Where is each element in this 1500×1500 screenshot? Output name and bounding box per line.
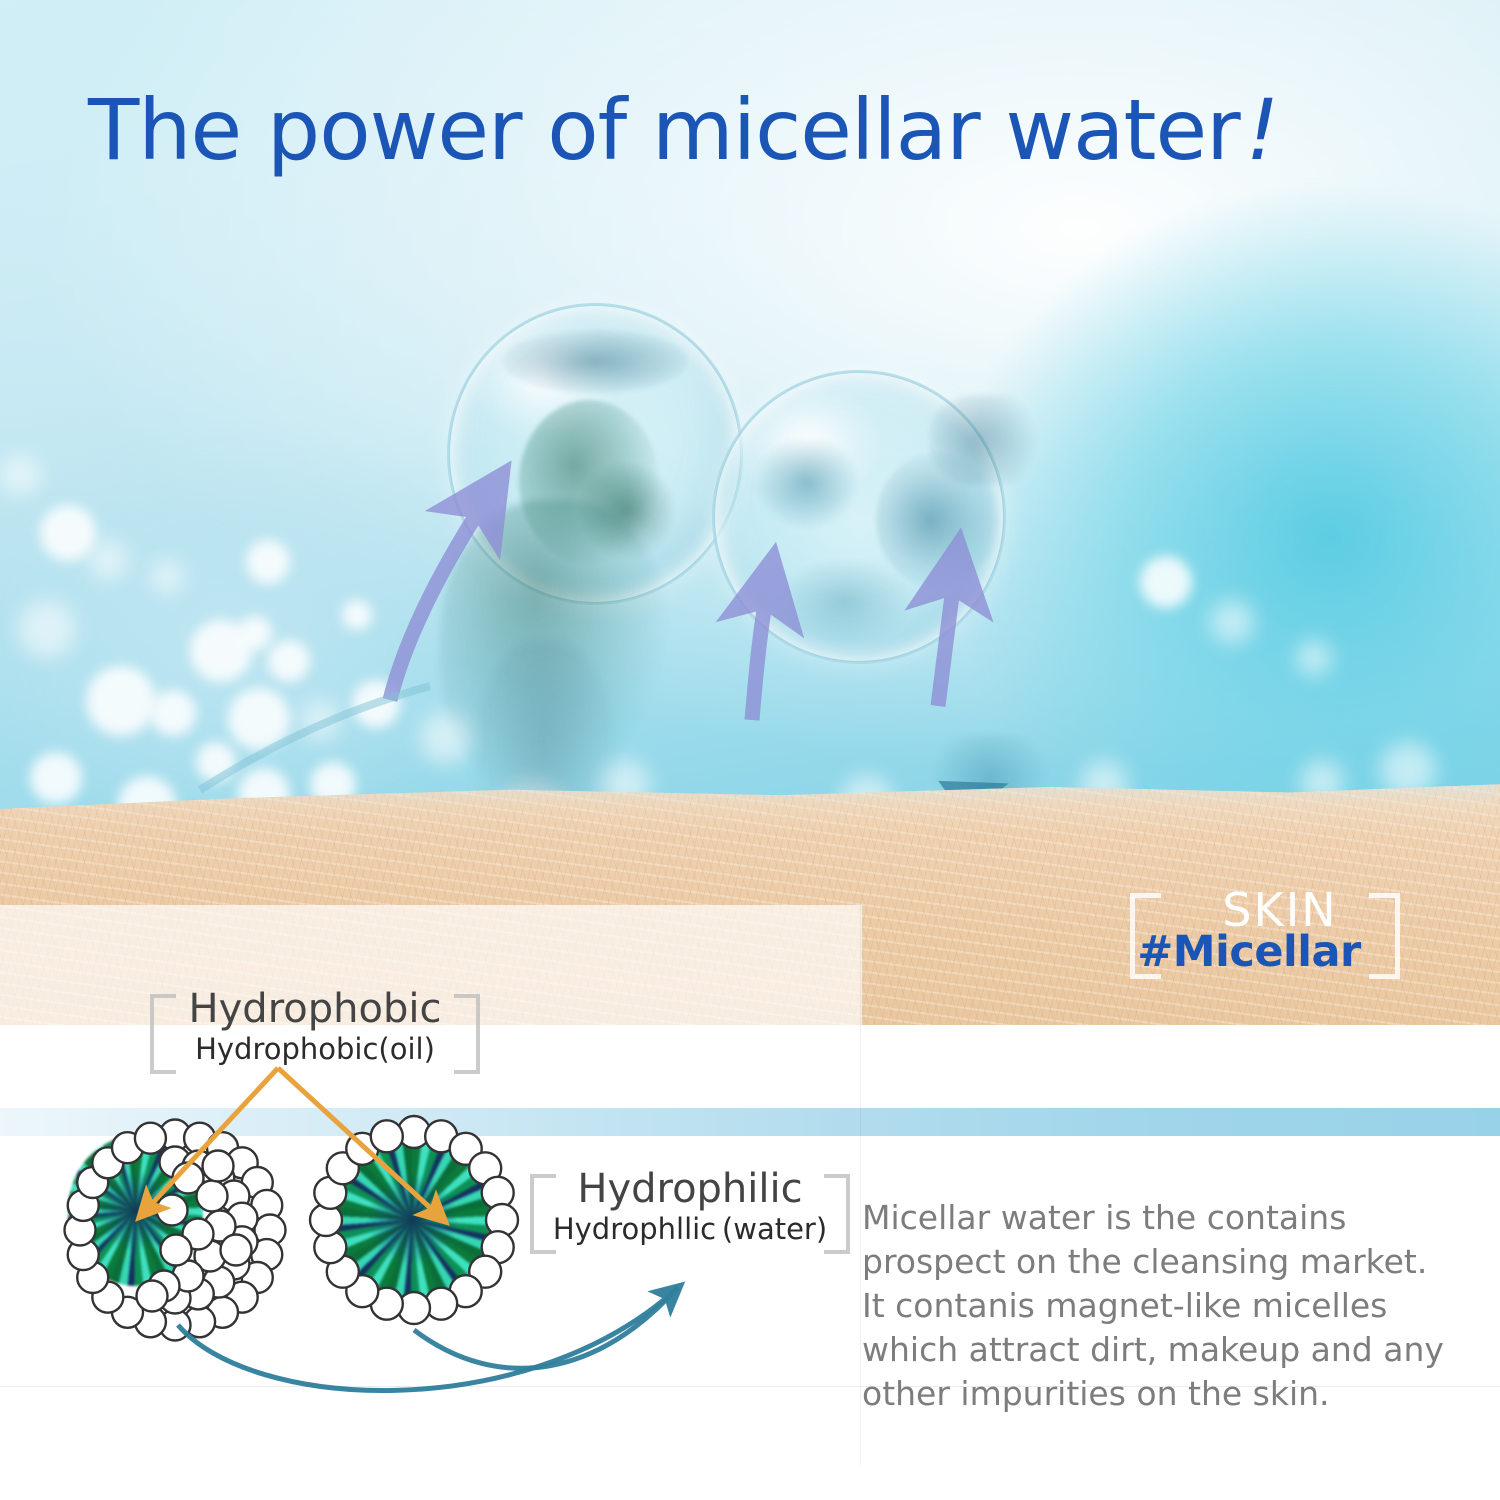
skin-micellar-tag: SKIN #Micellar [1130,885,1400,995]
arrow-into-left-bubble [390,498,487,700]
description-line: other impurities on the skin. [862,1372,1462,1416]
description-line: which attract dirt, makeup and any [862,1328,1462,1372]
arrow-hydrophilic-from-cluster [178,1293,672,1391]
arrow-into-right-bubble-right [938,572,955,706]
arrow-into-right-bubble-left [752,586,768,720]
description-line: It contanis magnet-like micelles [862,1284,1462,1328]
description-line: prospect on the cleansing market. [862,1240,1462,1284]
micellar-hashtag: #Micellar [1114,927,1384,977]
infographic-canvas: SKIN #Micellar The power of micellar wat… [0,0,1500,1500]
description-paragraph: Micellar water is the contains prospect … [862,1196,1462,1416]
page-title: The power of micellar water! [88,88,1278,172]
arrow-hydrophobic-right [278,1068,437,1214]
description-line: Micellar water is the contains [862,1196,1462,1240]
arrow-hydrophilic-from-ring [414,1287,678,1368]
page-title-text: The power of micellar water [88,81,1240,179]
page-title-exclamation: ! [1240,81,1279,179]
arrow-hydrophobic-left [147,1068,278,1209]
arrow-trail-left [200,686,430,790]
